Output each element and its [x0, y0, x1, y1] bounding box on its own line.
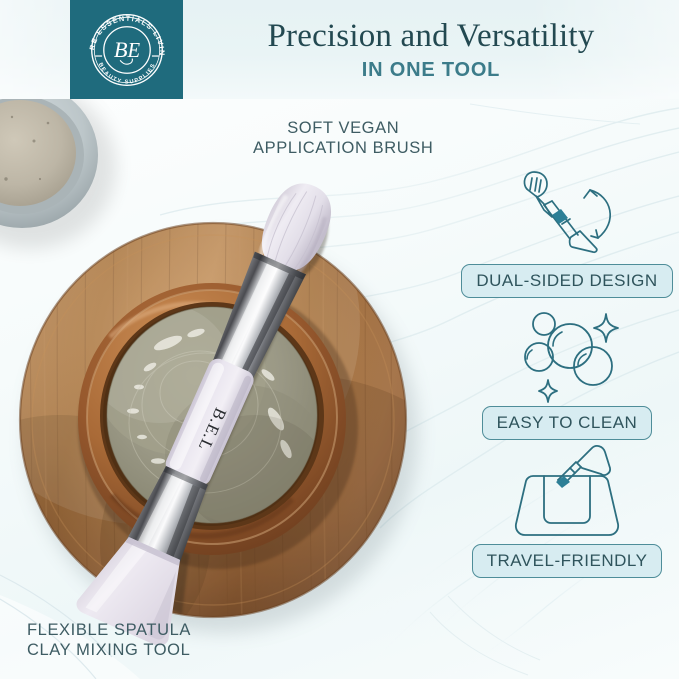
bubbles-sparkle-icon	[502, 302, 632, 406]
header-text-group: Precision and Versatility IN ONE TOOL	[183, 0, 679, 99]
feature-easy-to-clean: EASY TO CLEAN	[455, 302, 679, 440]
callout-spatula-line2: CLAY MIXING TOOL	[27, 640, 191, 660]
callout-brush-line2: APPLICATION BRUSH	[253, 138, 433, 158]
cosmetic-bag-brush-icon	[492, 440, 642, 544]
callout-brush-line1: SOFT VEGAN	[253, 118, 433, 138]
page-subtitle: IN ONE TOOL	[362, 59, 500, 82]
product-photograph: B.E.L	[0, 75, 470, 679]
feature-list: DUAL-SIDED DESIGN	[455, 150, 679, 610]
badge-dual-sided-design[interactable]: DUAL-SIDED DESIGN	[461, 264, 672, 298]
feature-travel-friendly: TRAVEL-FRIENDLY	[455, 440, 679, 578]
callout-spatula-line1: FLEXIBLE SPATULA	[27, 620, 191, 640]
page-title: Precision and Versatility	[267, 17, 594, 55]
feature-dual-sided-design: DUAL-SIDED DESIGN	[455, 160, 679, 298]
bare-essentials-living-seal-icon: BARE ESSENTIALS LIVING BEAUTY SUPPLIES B…	[84, 7, 170, 93]
callout-spatula: FLEXIBLE SPATULA CLAY MIXING TOOL	[27, 620, 191, 660]
dual-sided-brush-rotate-icon	[492, 160, 642, 264]
badge-easy-to-clean[interactable]: EASY TO CLEAN	[482, 406, 653, 440]
badge-travel-friendly[interactable]: TRAVEL-FRIENDLY	[472, 544, 663, 578]
brand-logo-block: BARE ESSENTIALS LIVING BEAUTY SUPPLIES B…	[70, 0, 183, 99]
dry-clay-powder-bowl	[0, 80, 116, 249]
infographic-page: B.E.L	[0, 0, 679, 679]
callout-brush: SOFT VEGAN APPLICATION BRUSH	[253, 118, 433, 158]
svg-text:BE: BE	[113, 36, 140, 61]
